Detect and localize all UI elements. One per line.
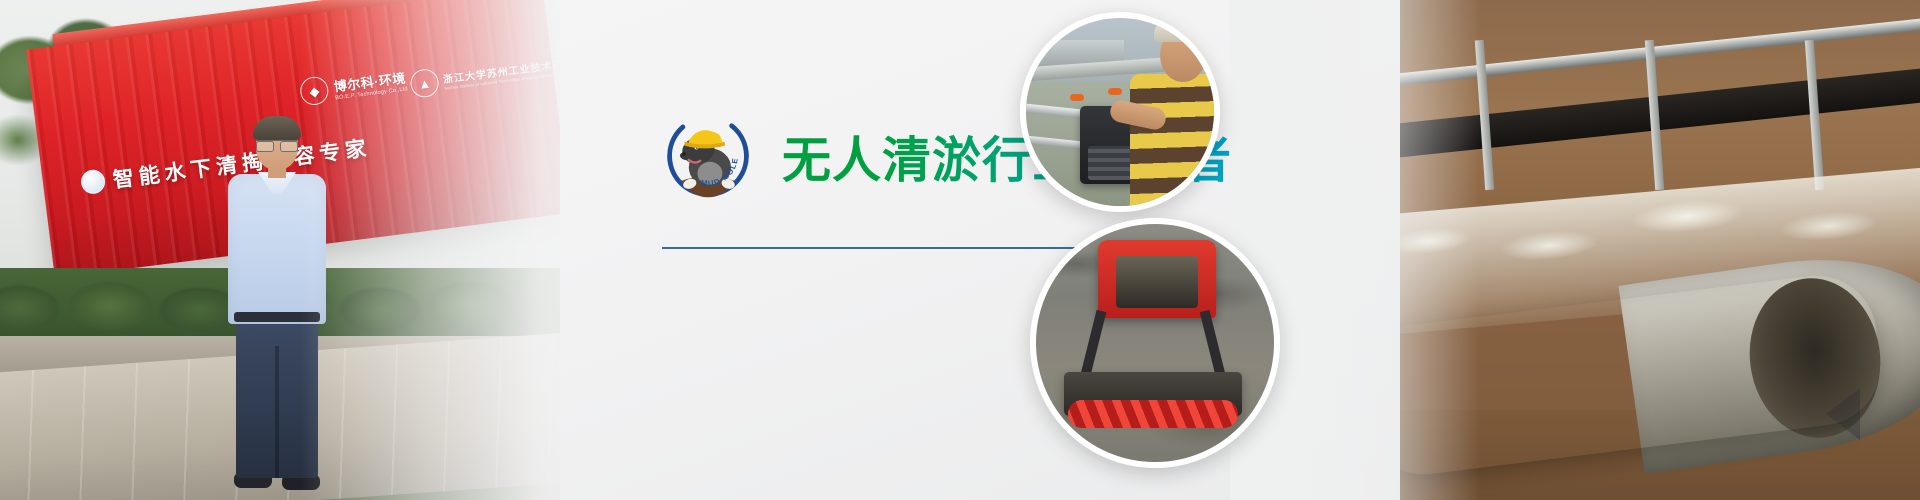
auger-screw: [1068, 400, 1238, 428]
belt: [234, 312, 320, 322]
left-photo: ◆ 博尔科·环境 BO.E.P. Technology Co.,Ltd ▲ 浙江…: [0, 0, 560, 500]
engineer-person: [222, 120, 332, 500]
trousers: [236, 318, 318, 478]
mud-mole-logo: MUD MOLE: [660, 108, 756, 204]
buoy-1: [1070, 94, 1084, 101]
company-seal-icon: ◆: [299, 75, 330, 106]
hair: [253, 116, 301, 140]
dredging-robot-auger-photo: [1030, 218, 1280, 468]
slogan-badge-icon: [80, 168, 107, 195]
sun-hat: [1154, 20, 1212, 42]
operator-person: [1126, 22, 1218, 204]
eyeglasses-icon: [256, 140, 298, 150]
operator-with-control-case-photo: [1020, 12, 1220, 212]
partner-seal-icon: ▲: [409, 68, 440, 99]
rail-post-3: [1805, 40, 1824, 190]
striped-shirt: [1130, 74, 1220, 206]
arrow-accent-icon: [1826, 388, 1860, 440]
red-dredging-robot-body: [1098, 240, 1216, 318]
right-photo-group: [1230, 0, 1920, 500]
buoy-2: [1108, 88, 1122, 95]
hero-banner: ◆ 博尔科·环境 BO.E.P. Technology Co.,Ltd ▲ 浙江…: [0, 0, 1920, 500]
dress-shirt: [228, 174, 326, 324]
